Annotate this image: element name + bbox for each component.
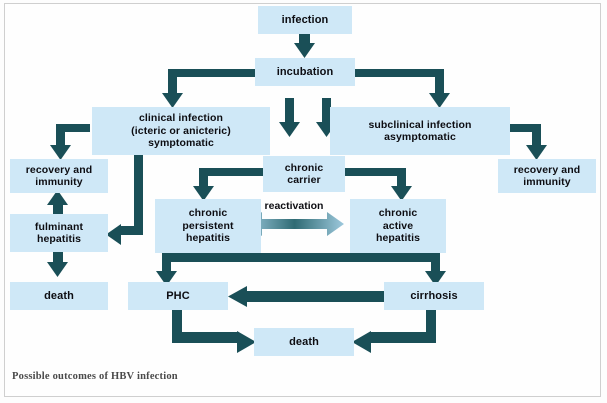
fulminant-hepatitis-line2: hepatitis: [37, 233, 81, 246]
node-death-bottom[interactable]: death: [254, 328, 354, 356]
node-cirrhosis[interactable]: cirrhosis: [384, 282, 484, 310]
node-recovery-immunity-left[interactable]: recovery and immunity: [10, 159, 108, 193]
node-infection[interactable]: infection: [258, 6, 352, 34]
node-subclinical-infection[interactable]: subclinical infection asymptomatic: [330, 107, 510, 155]
recovery-left-line1: recovery and: [26, 164, 93, 177]
active-line3: hepatitis: [376, 232, 420, 245]
death-left-label: death: [44, 290, 74, 303]
persistent-line3: hepatitis: [186, 232, 230, 245]
phc-label: PHC: [166, 290, 190, 303]
recovery-right-line2: immunity: [523, 176, 570, 189]
reactivation-label: reactivation: [252, 200, 336, 212]
active-line1: chronic: [379, 207, 418, 220]
active-line2: active: [383, 220, 413, 233]
clinical-infection-line3: symptomatic: [148, 137, 214, 150]
node-phc[interactable]: PHC: [128, 282, 228, 310]
edge-clinical-to-chronic-carrier: [279, 98, 300, 137]
edge-incubation-to-clinical-infection: [162, 69, 268, 108]
edge-subclinical-to-recovery-right: [507, 124, 547, 160]
node-chronic-carrier[interactable]: chronic carrier: [263, 156, 345, 192]
node-incubation[interactable]: incubation: [255, 58, 355, 86]
figure-page: infection incubation clinical infection …: [0, 0, 607, 403]
death-bottom-label: death: [289, 336, 319, 349]
subclinical-infection-line2: asymptomatic: [384, 131, 456, 144]
fulminant-hepatitis-line1: fulminant: [35, 221, 83, 234]
recovery-right-line1: recovery and: [514, 164, 581, 177]
edge-phc-to-death-bottom: [172, 308, 256, 353]
node-chronic-active-hepatitis[interactable]: chronic active hepatitis: [350, 199, 446, 253]
edge-fulminant-to-death-left: [47, 252, 68, 277]
clinical-infection-line1: clinical infection: [139, 112, 223, 125]
node-recovery-immunity-right[interactable]: recovery and immunity: [498, 159, 596, 193]
subclinical-infection-line1: subclinical infection: [368, 119, 471, 132]
chronic-carrier-line1: chronic: [285, 162, 324, 175]
node-fulminant-hepatitis[interactable]: fulminant hepatitis: [10, 214, 108, 252]
edge-incubation-to-subclinical-infection: [344, 69, 450, 108]
persistent-line1: chronic: [189, 207, 228, 220]
node-infection-label: infection: [282, 14, 329, 27]
node-clinical-infection[interactable]: clinical infection (icteric or anicteric…: [92, 107, 270, 155]
recovery-left-line2: immunity: [35, 176, 82, 189]
node-incubation-label: incubation: [277, 66, 334, 79]
edge-clinical-to-fulminant: [106, 152, 143, 245]
edge-infection-to-incubation: [294, 33, 315, 58]
persistent-line2: persistent: [182, 220, 233, 233]
edge-cirrhosis-to-death-bottom: [352, 308, 436, 353]
cirrhosis-label: cirrhosis: [410, 290, 457, 303]
figure-caption: Possible outcomes of HBV infection: [12, 371, 178, 382]
node-chronic-persistent-hepatitis[interactable]: chronic persistent hepatitis: [155, 199, 261, 253]
chronic-carrier-line2: carrier: [287, 174, 320, 187]
edge-carrier-to-active: [344, 168, 412, 201]
edge-carrier-to-persistent: [193, 168, 271, 201]
edge-fulminant-to-recovery-left: [47, 190, 68, 215]
edge-cirrhosis-to-phc: [228, 286, 405, 307]
edge-clinical-to-recovery-left: [50, 124, 90, 160]
node-death-left[interactable]: death: [10, 282, 108, 310]
clinical-infection-line2: (icteric or anicteric): [131, 125, 231, 138]
